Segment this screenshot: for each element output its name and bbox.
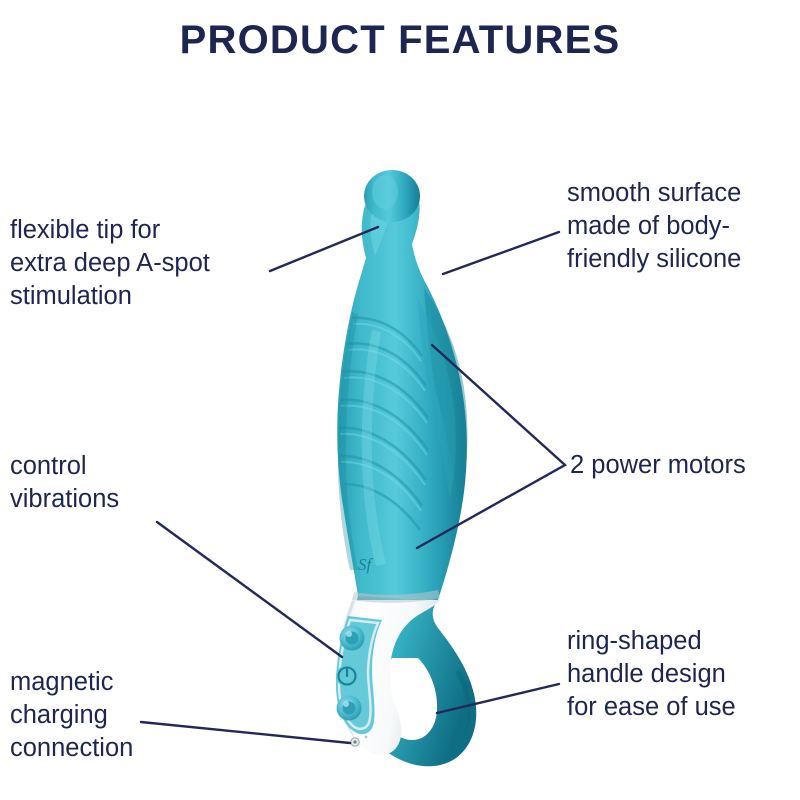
brand-mark: Sf: [358, 555, 374, 574]
callout-smooth-surface: smooth surface made of body- friendly si…: [567, 177, 800, 276]
product-features-page: PRODUCT FEATURES: [0, 0, 800, 800]
product-body: Sf: [337, 170, 467, 600]
callout-control-vibrations: control vibrations: [10, 450, 230, 516]
callout-power-motors: 2 power motors: [570, 449, 800, 482]
callout-ring-handle: ring-shaped handle design for ease of us…: [567, 625, 800, 724]
callout-magnetic-charging: magnetic charging connection: [10, 666, 240, 765]
callout-flexible-tip: flexible tip for extra deep A-spot stimu…: [10, 214, 280, 313]
power-button[interactable]: [336, 665, 358, 687]
intensity-down-button[interactable]: [337, 696, 362, 721]
intensity-up-button[interactable]: [340, 626, 365, 651]
